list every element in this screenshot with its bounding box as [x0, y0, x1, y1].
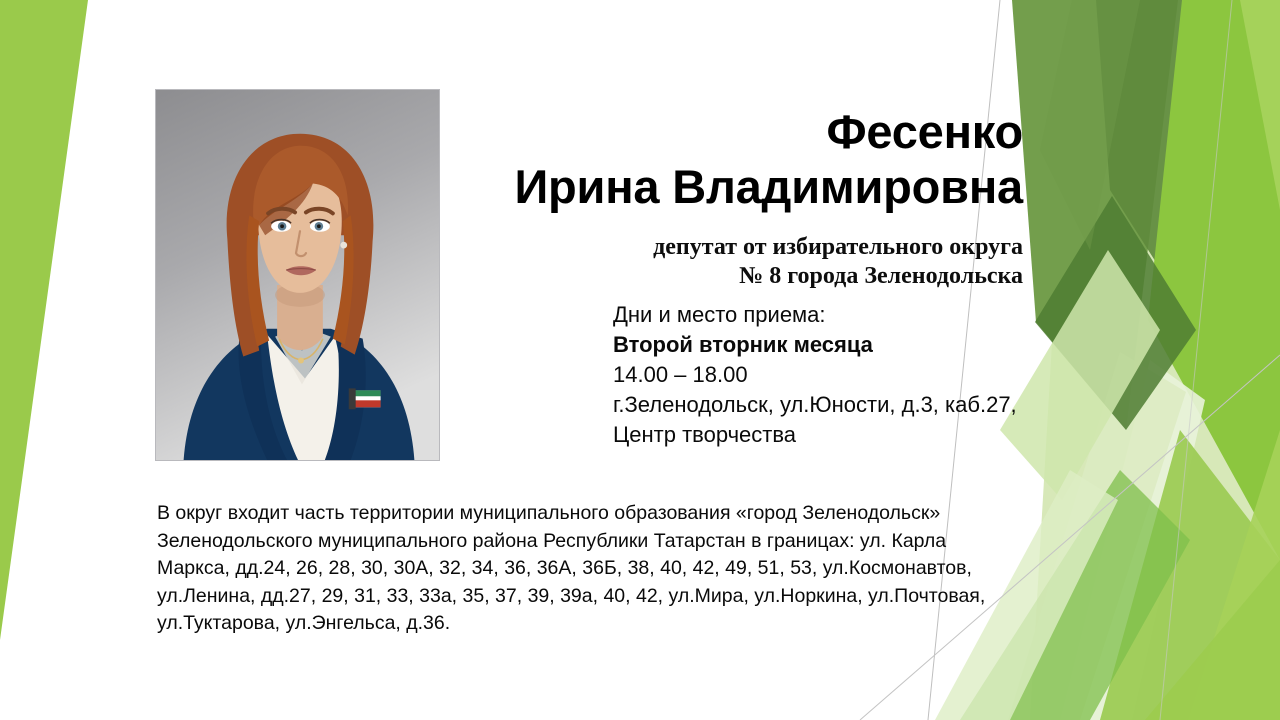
district-description: В округ входит часть территории муниципа… — [157, 500, 1087, 638]
reception-day: Второй вторник месяца — [613, 330, 1083, 360]
flag-pin — [349, 388, 381, 409]
reception-venue: Центр творчества — [613, 420, 1083, 450]
description-line-5: ул.Туктарова, ул.Энгельса, д.36. — [157, 610, 1087, 638]
reception-info: Дни и место приема: Второй вторник месяц… — [613, 300, 1083, 450]
earring — [340, 242, 347, 249]
description-line-2: Зеленодольского муниципального района Ре… — [157, 528, 1087, 556]
right-facet-overlap-shadow — [1040, 0, 1140, 250]
description-line-4: ул.Ленина, дд.27, 29, 31, 33, 33а, 35, 3… — [157, 583, 1087, 611]
hairline-right — [1160, 0, 1232, 720]
right-facet-mid-lower — [1188, 430, 1280, 720]
left-green-wedge — [0, 0, 88, 640]
right-facet-deep — [1096, 0, 1215, 300]
necklace-pendant — [298, 358, 304, 364]
subtitle-line-role: депутат от избирательного округа — [440, 233, 1023, 262]
right-facet-top-bright-edge — [1240, 0, 1280, 210]
portrait-photo — [155, 89, 440, 461]
right-facet-bright-tall — [1148, 0, 1280, 560]
page-title: Фесенко Ирина Владимировна — [440, 104, 1023, 214]
right-facet-soft-lower — [1100, 430, 1280, 720]
slide-canvas: Фесенко Ирина Владимировна депутат от из… — [0, 0, 1280, 720]
subtitle: депутат от избирательного округа № 8 гор… — [440, 233, 1023, 291]
reception-address: г.Зеленодольск, ул.Юности, д.3, каб.27, — [613, 390, 1083, 420]
reception-hours: 14.00 – 18.00 — [613, 360, 1083, 390]
title-line-givenname: Ирина Владимировна — [440, 159, 1023, 214]
portrait-illustration — [156, 90, 439, 460]
description-line-3: Маркса, дд.24, 26, 28, 30, 30А, 32, 34, … — [157, 555, 1087, 583]
title-line-surname: Фесенко — [440, 104, 1023, 159]
description-line-1: В округ входит часть территории муниципа… — [157, 500, 1087, 528]
subtitle-line-district: № 8 города Зеленодольска — [440, 262, 1023, 291]
right-facet-bottom-bright — [1145, 560, 1280, 720]
reception-heading: Дни и место приема: — [613, 300, 1083, 330]
